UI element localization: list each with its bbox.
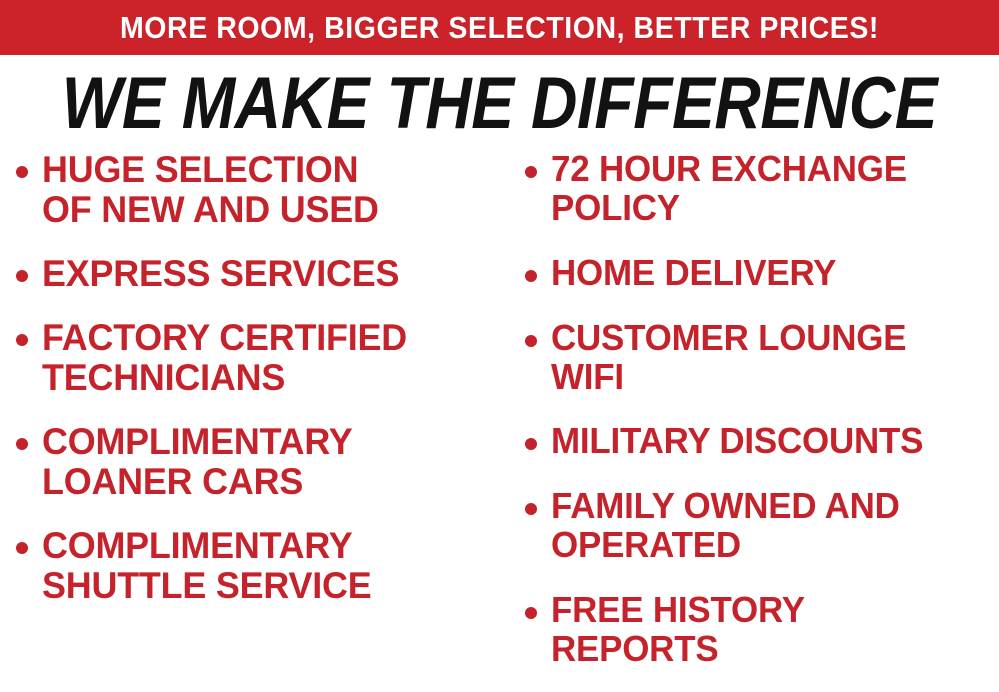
bullet-dot-icon bbox=[525, 607, 537, 619]
bullet-dot-icon bbox=[525, 438, 537, 450]
list-item: HOME DELIVERY bbox=[525, 254, 999, 293]
list-item-label: EXPRESS SERVICES bbox=[42, 254, 399, 294]
list-item: MILITARY DISCOUNTS bbox=[525, 422, 999, 461]
bullet-dot-icon bbox=[525, 166, 537, 178]
top-tagline-strip: MORE ROOM, BIGGER SELECTION, BETTER PRIC… bbox=[0, 0, 999, 55]
list-item: COMPLIMENTARY SHUTTLE SERVICE bbox=[16, 526, 505, 606]
bullet-dot-icon bbox=[525, 503, 537, 515]
bullet-dot-icon bbox=[16, 166, 28, 178]
list-item-label: CUSTOMER LOUNGE WIFI bbox=[551, 319, 906, 397]
list-item-label: HOME DELIVERY bbox=[551, 254, 836, 293]
benefits-column-right: 72 HOUR EXCHANGE POLICY HOME DELIVERY CU… bbox=[505, 150, 999, 692]
list-item-label: FAMILY OWNED AND OPERATED bbox=[551, 487, 900, 565]
list-item-label: HUGE SELECTION OF NEW AND USED bbox=[42, 150, 379, 230]
list-item: COMPLIMENTARY LOANER CARS bbox=[16, 422, 505, 502]
list-item: HUGE SELECTION OF NEW AND USED bbox=[16, 150, 505, 230]
list-item-label: COMPLIMENTARY LOANER CARS bbox=[42, 422, 353, 502]
advertisement-banner: MORE ROOM, BIGGER SELECTION, BETTER PRIC… bbox=[0, 0, 999, 692]
bullet-dot-icon bbox=[525, 335, 537, 347]
list-item-label: FREE HISTORY REPORTS bbox=[551, 591, 805, 669]
list-item-label: 72 HOUR EXCHANGE POLICY bbox=[551, 150, 907, 228]
bullet-dot-icon bbox=[16, 542, 28, 554]
list-item-label: MILITARY DISCOUNTS bbox=[551, 422, 923, 461]
bullet-dot-icon bbox=[525, 270, 537, 282]
headline-container: WE MAKE THE DIFFERENCE bbox=[0, 64, 999, 142]
bullet-dot-icon bbox=[16, 334, 28, 346]
benefits-column-left: HUGE SELECTION OF NEW AND USED EXPRESS S… bbox=[0, 150, 505, 630]
benefits-columns: HUGE SELECTION OF NEW AND USED EXPRESS S… bbox=[0, 150, 999, 692]
list-item: 72 HOUR EXCHANGE POLICY bbox=[525, 150, 999, 228]
page-title: WE MAKE THE DIFFERENCE bbox=[62, 67, 937, 140]
list-item: FAMILY OWNED AND OPERATED bbox=[525, 487, 999, 565]
list-item: CUSTOMER LOUNGE WIFI bbox=[525, 319, 999, 397]
bullet-dot-icon bbox=[16, 438, 28, 450]
list-item: FREE HISTORY REPORTS bbox=[525, 591, 999, 669]
list-item: FACTORY CERTIFIED TECHNICIANS bbox=[16, 318, 505, 398]
list-item-label: FACTORY CERTIFIED TECHNICIANS bbox=[42, 318, 407, 398]
list-item: EXPRESS SERVICES bbox=[16, 254, 505, 294]
bullet-dot-icon bbox=[16, 270, 28, 282]
list-item-label: COMPLIMENTARY SHUTTLE SERVICE bbox=[42, 526, 371, 606]
top-tagline-text: MORE ROOM, BIGGER SELECTION, BETTER PRIC… bbox=[120, 12, 879, 43]
